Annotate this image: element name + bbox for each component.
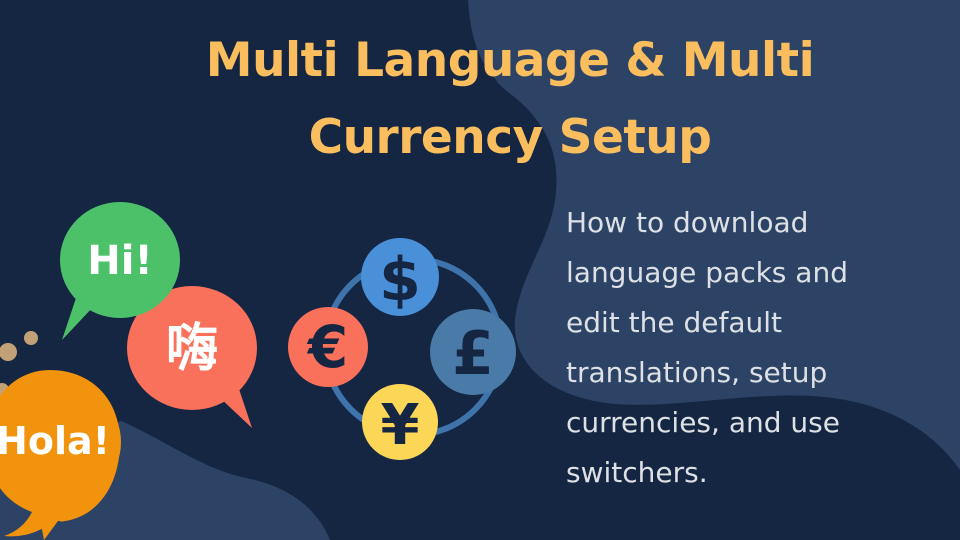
speech-bubble-english-label: Hi! xyxy=(87,238,152,284)
currency-coin-gbp: £ xyxy=(430,309,516,395)
speech-bubble-english-tail xyxy=(62,298,94,340)
speech-bubble-chinese-label: 嗨 xyxy=(166,319,218,379)
currency-coin-jpy-symbol: ¥ xyxy=(381,393,420,458)
speech-bubble-group: Hola! 嗨 Hi! xyxy=(0,180,300,540)
currency-coin-eur-symbol: € xyxy=(306,313,348,381)
currency-coin-usd: $ xyxy=(361,238,439,316)
description-text: How to download language packs and edit … xyxy=(566,198,906,498)
currency-ring-graphic: € £ $ ¥ xyxy=(288,222,538,472)
title-line-2: Currency Setup xyxy=(140,99,880,176)
slide-canvas: Multi Language & Multi Currency Setup Ho… xyxy=(0,0,960,540)
currency-coin-eur: € xyxy=(288,307,368,387)
currency-coin-jpy: ¥ xyxy=(362,384,438,460)
page-title: Multi Language & Multi Currency Setup xyxy=(140,22,880,176)
description-block: How to download language packs and edit … xyxy=(566,198,906,498)
currency-coin-gbp-symbol: £ xyxy=(452,319,494,389)
title-line-1: Multi Language & Multi xyxy=(140,22,880,99)
speech-bubble-spanish-label: Hola! xyxy=(0,419,110,463)
speech-bubble-spanish: Hola! xyxy=(0,370,121,540)
currency-coin-usd-symbol: $ xyxy=(379,245,421,315)
